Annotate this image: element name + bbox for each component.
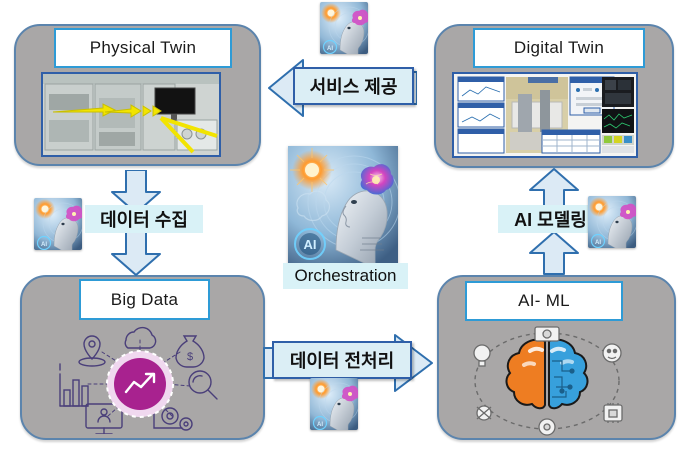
panel-title-digital-twin: Digital Twin — [473, 28, 645, 68]
panel-title-label: Digital Twin — [514, 38, 604, 58]
arrow-data-collection-lower — [110, 232, 162, 276]
label-data-preprocessing: 데이터 전처리 — [272, 341, 412, 379]
svg-text:AI: AI — [304, 237, 317, 252]
svg-text:AI: AI — [595, 240, 601, 246]
ai-avatar-icon-bottom: AI — [310, 378, 358, 430]
label-service-provision: 서비스 제공 — [293, 67, 414, 105]
panel-title-physical-twin: Physical Twin — [54, 28, 232, 68]
panel-title-label: AI- ML — [518, 291, 570, 311]
ai-ml-illustration — [452, 325, 642, 437]
physical-twin-photo — [41, 72, 221, 157]
arrow-ai-modeling-lower — [528, 231, 580, 275]
svg-text:AI: AI — [41, 242, 47, 248]
label-text: AI 모델링 — [514, 206, 587, 232]
panel-title-label: Big Data — [111, 290, 179, 310]
label-text: Orchestration — [294, 266, 396, 286]
label-orchestration: Orchestration — [283, 263, 408, 289]
label-text: 데이터 수집 — [100, 206, 188, 232]
svg-text:$: $ — [187, 351, 193, 363]
ai-avatar-icon-right: AI — [588, 196, 636, 248]
orchestration-ai-robot-image: AI — [288, 146, 398, 264]
ai-avatar-icon-left: AI — [34, 198, 82, 250]
panel-title-ai-ml: AI- ML — [465, 281, 623, 321]
label-text: 서비스 제공 — [310, 73, 398, 99]
svg-text:AI: AI — [327, 46, 333, 52]
digital-twin-dashboard — [452, 72, 638, 158]
big-data-illustration: $ — [40, 324, 240, 434]
panel-title-label: Physical Twin — [90, 38, 197, 58]
svg-text:AI: AI — [317, 422, 323, 428]
ai-avatar-icon-top: AI — [320, 2, 368, 54]
panel-title-big-data: Big Data — [79, 279, 210, 320]
label-text: 데이터 전처리 — [290, 347, 394, 373]
label-data-collection: 데이터 수집 — [85, 205, 203, 233]
